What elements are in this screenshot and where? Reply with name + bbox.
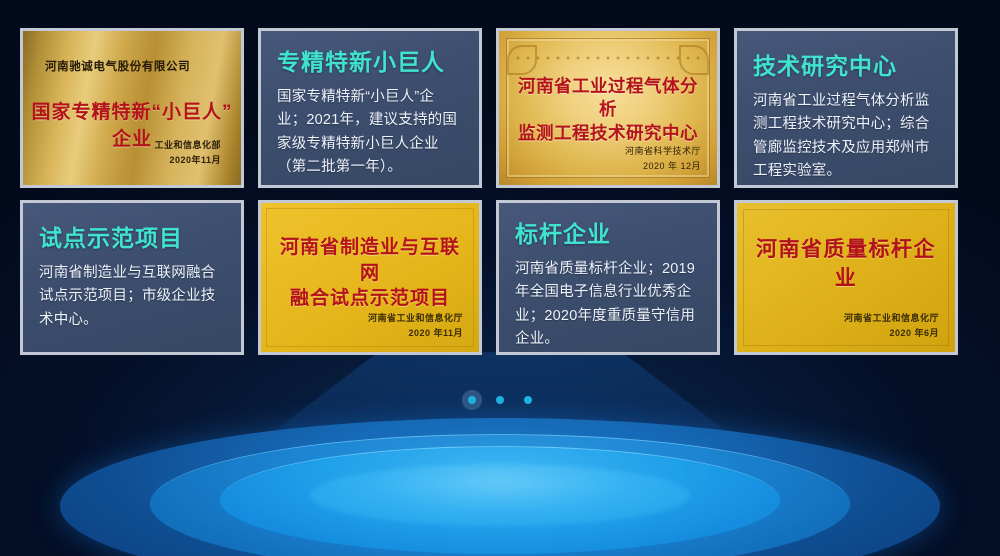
pagination-dot-3[interactable] [524, 396, 532, 404]
plaque-date: 2020 年11月 [368, 326, 463, 341]
carousel-pagination[interactable] [0, 396, 1000, 404]
plaque-headline: 河南省制造业与互联网 融合试点示范项目 [273, 235, 467, 312]
beam-shape [180, 352, 820, 502]
stage-podium [0, 356, 1000, 556]
spotlight-beam [0, 352, 1000, 502]
info-card-body: 河南省制造业与互联网融合试点示范项目；市级企业技术中心。 [39, 262, 225, 332]
honor-info-specialized-sme[interactable]: 专精特新小巨人 国家专精特新“小巨人”企业；2021年，建议支持的国家级专精特新… [258, 28, 482, 188]
plaque-issuer: 河南省工业和信息化厅 [844, 311, 939, 326]
plaque-inner: 河南省工业过程气体分析 监测工程技术研究中心 河南省科学技术厅 2020 年 1… [499, 31, 717, 185]
honor-info-benchmark-enterprise[interactable]: 标杆企业 河南省质量标杆企业；2019年全国电子信息行业优秀企业；2020年度重… [496, 200, 720, 355]
plaque-date: 2020 年6月 [844, 326, 939, 341]
podium-ring-core [310, 464, 690, 526]
honor-plaque-gas-analysis-center[interactable]: 河南省工业过程气体分析 监测工程技术研究中心 河南省科学技术厅 2020 年 1… [496, 28, 720, 188]
plaque-footer: 工业和信息化部 2020年11月 [154, 138, 221, 168]
plaque-footer: 河南省科学技术厅 2020 年 12月 [625, 144, 701, 174]
plaque-issuer: 河南省工业和信息化厅 [368, 311, 463, 326]
info-card-body: 国家专精特新“小巨人”企业；2021年，建议支持的国家级专精特新小巨人企业（第二… [277, 86, 463, 180]
info-card-body: 河南省工业过程气体分析监测工程技术研究中心；综合管廊监控技术及应用郑州市工程实验… [753, 90, 939, 184]
info-card-title: 专精特新小巨人 [277, 49, 463, 77]
honor-info-tech-research-center[interactable]: 技术研究中心 河南省工业过程气体分析监测工程技术研究中心；综合管廊监控技术及应用… [734, 28, 958, 188]
honor-showcase-stage: 河南驰诚电气股份有限公司 国家专精特新“小巨人”企业 工业和信息化部 2020年… [0, 0, 1000, 556]
info-card-title: 技术研究中心 [753, 53, 939, 81]
plaque-inner: 河南驰诚电气股份有限公司 国家专精特新“小巨人”企业 工业和信息化部 2020年… [23, 31, 241, 185]
podium-ring-outer [60, 418, 940, 556]
honor-plaque-quality-benchmark[interactable]: 河南省质量标杆企业 河南省工业和信息化厅 2020 年6月 [734, 200, 958, 355]
plaque-company-name: 河南驰诚电气股份有限公司 [45, 58, 190, 74]
plaque-inner: 河南省质量标杆企业 河南省工业和信息化厅 2020 年6月 [737, 203, 955, 352]
info-card-title: 标杆企业 [515, 221, 701, 249]
plaque-headline: 河南省工业过程气体分析 监测工程技术研究中心 [511, 75, 705, 146]
plaque-footer: 河南省工业和信息化厅 2020 年6月 [844, 311, 939, 341]
honor-plaque-pilot-demo-project[interactable]: 河南省制造业与互联网 融合试点示范项目 河南省工业和信息化厅 2020 年11月 [258, 200, 482, 355]
plaque-issuer: 河南省科学技术厅 [625, 144, 701, 159]
honor-plaque-specialized-sme[interactable]: 河南驰诚电气股份有限公司 国家专精特新“小巨人”企业 工业和信息化部 2020年… [20, 28, 244, 188]
info-card-title: 试点示范项目 [39, 225, 225, 253]
plaque-footer: 河南省工业和信息化厅 2020 年11月 [368, 311, 463, 341]
plaque-inner: 河南省制造业与互联网 融合试点示范项目 河南省工业和信息化厅 2020 年11月 [261, 203, 479, 352]
plaque-date: 2020年11月 [154, 153, 221, 168]
plaque-date: 2020 年 12月 [625, 159, 701, 174]
pagination-dot-1[interactable] [468, 396, 476, 404]
plaque-issuer: 工业和信息化部 [154, 138, 221, 153]
info-card-body: 河南省质量标杆企业；2019年全国电子信息行业优秀企业；2020年度重质量守信用… [515, 258, 701, 352]
honor-info-pilot-demo-project[interactable]: 试点示范项目 河南省制造业与互联网融合试点示范项目；市级企业技术中心。 [20, 200, 244, 355]
plaque-headline: 河南省质量标杆企业 [749, 236, 943, 293]
pagination-dot-2[interactable] [496, 396, 504, 404]
podium-ring-mid [150, 434, 850, 556]
honor-card-grid: 河南驰诚电气股份有限公司 国家专精特新“小巨人”企业 工业和信息化部 2020年… [20, 28, 980, 355]
podium-ring-inner [220, 446, 780, 554]
